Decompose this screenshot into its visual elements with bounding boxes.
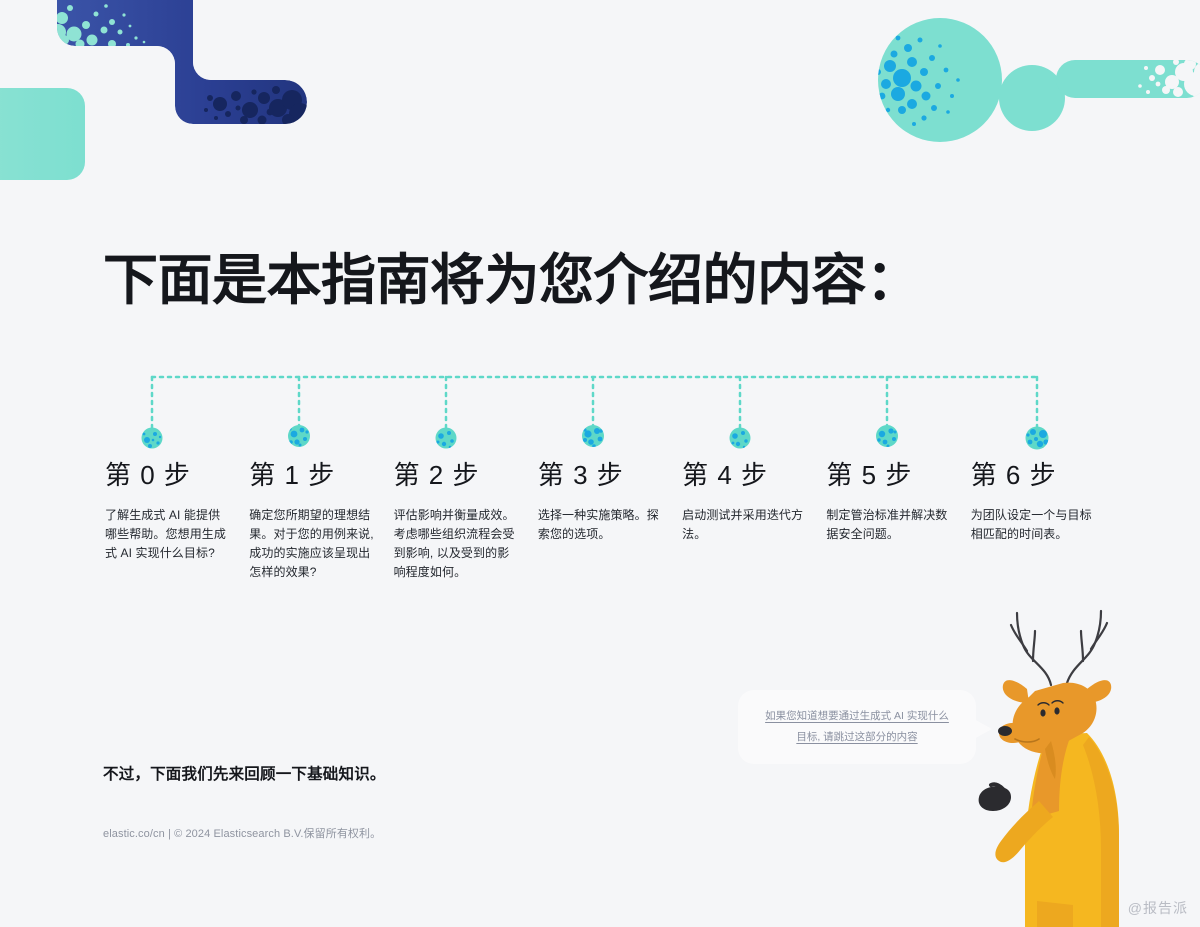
step-title: 第 3 步 <box>538 455 664 492</box>
step-item-0: 第 0 步 了解生成式 AI 能提供哪些帮助。您想用生成式 AI 实现什么目标? <box>105 455 249 582</box>
antlers-icon <box>1011 611 1107 685</box>
step-description: 确定您所期望的理想结果。对于您的用例来说, 成功的实施应该呈现出怎样的效果? <box>249 506 375 582</box>
page-title: 下面是本指南将为您介绍的内容： <box>103 235 921 315</box>
timeline-node-6 <box>1026 427 1049 451</box>
timeline-node-4 <box>730 428 751 449</box>
callout-bubble-text: 如果您知道想要通过生成式 AI 实现什么 目标, 请跳过这部分的内容 <box>738 690 976 764</box>
step-item-3: 第 3 步 选择一种实施策略。探索您的选项。 <box>538 455 682 582</box>
blue-connector-shape <box>50 0 311 126</box>
deer-hoof <box>979 786 1011 811</box>
ear-left <box>1003 680 1029 703</box>
step-description: 了解生成式 AI 能提供哪些帮助。您想用生成式 AI 实现什么目标? <box>105 506 231 563</box>
deer-leg <box>1037 901 1073 927</box>
callout-bubble: 如果您知道想要通过生成式 AI 实现什么 目标, 请跳过这部分的内容 <box>738 690 976 764</box>
step-description: 制定管治标准并解决数据安全问题。 <box>826 506 952 544</box>
watermark: @报告派 <box>1128 898 1188 918</box>
timeline-node-3 <box>582 425 604 448</box>
step-description: 选择一种实施策略。探索您的选项。 <box>538 506 664 544</box>
teal-circle-small <box>999 65 1065 131</box>
deer-nose <box>998 726 1012 736</box>
deer-eye-right <box>1054 707 1059 714</box>
timeline-node-2 <box>436 428 457 449</box>
timeline-rail <box>0 360 1200 460</box>
callout-line-2[interactable]: 目标, 请跳过这部分的内容 <box>796 730 917 745</box>
step-item-5: 第 5 步 制定管治标准并解决数据安全问题。 <box>826 455 970 582</box>
step-item-4: 第 4 步 启动测试并采用迭代方法。 <box>682 455 826 582</box>
step-description: 为团队设定一个与目标相匹配的时间表。 <box>971 506 1097 544</box>
step-item-2: 第 2 步 评估影响并衡量成效。考虑哪些组织流程会受到影响, 以及受到的影响程度… <box>394 455 538 582</box>
footer-text: elastic.co/cn | © 2024 Elasticsearch B.V… <box>103 825 381 841</box>
step-item-1: 第 1 步 确定您所期望的理想结果。对于您的用例来说, 成功的实施应该呈现出怎样… <box>249 455 393 582</box>
deer-eye-left <box>1040 709 1045 716</box>
deer-mascot <box>955 605 1155 927</box>
step-title: 第 5 步 <box>826 455 952 492</box>
step-title: 第 0 步 <box>105 455 231 492</box>
steps-list: 第 0 步 了解生成式 AI 能提供哪些帮助。您想用生成式 AI 实现什么目标?… <box>105 455 1115 582</box>
timeline-node-1 <box>288 425 310 447</box>
timeline-node-0 <box>142 428 163 449</box>
step-item-6: 第 6 步 为团队设定一个与目标相匹配的时间表。 <box>971 455 1115 582</box>
callout-line-1[interactable]: 如果您知道想要通过生成式 AI 实现什么 <box>765 709 949 724</box>
step-title: 第 4 步 <box>682 455 808 492</box>
step-title: 第 2 步 <box>394 455 520 492</box>
decoration-top-right <box>860 0 1200 190</box>
step-title: 第 6 步 <box>971 455 1097 492</box>
step-description: 启动测试并采用迭代方法。 <box>682 506 808 544</box>
step-description: 评估影响并衡量成效。考虑哪些组织流程会受到影响, 以及受到的影响程度如何。 <box>394 506 520 582</box>
decoration-top-left <box>0 0 320 200</box>
teal-square-shape <box>0 88 85 180</box>
timeline-drop-lines <box>152 377 1037 428</box>
step-title: 第 1 步 <box>249 455 375 492</box>
timeline-node-5 <box>876 425 898 448</box>
closing-note: 不过，下面我们先来回顾一下基础知识。 <box>103 762 386 784</box>
